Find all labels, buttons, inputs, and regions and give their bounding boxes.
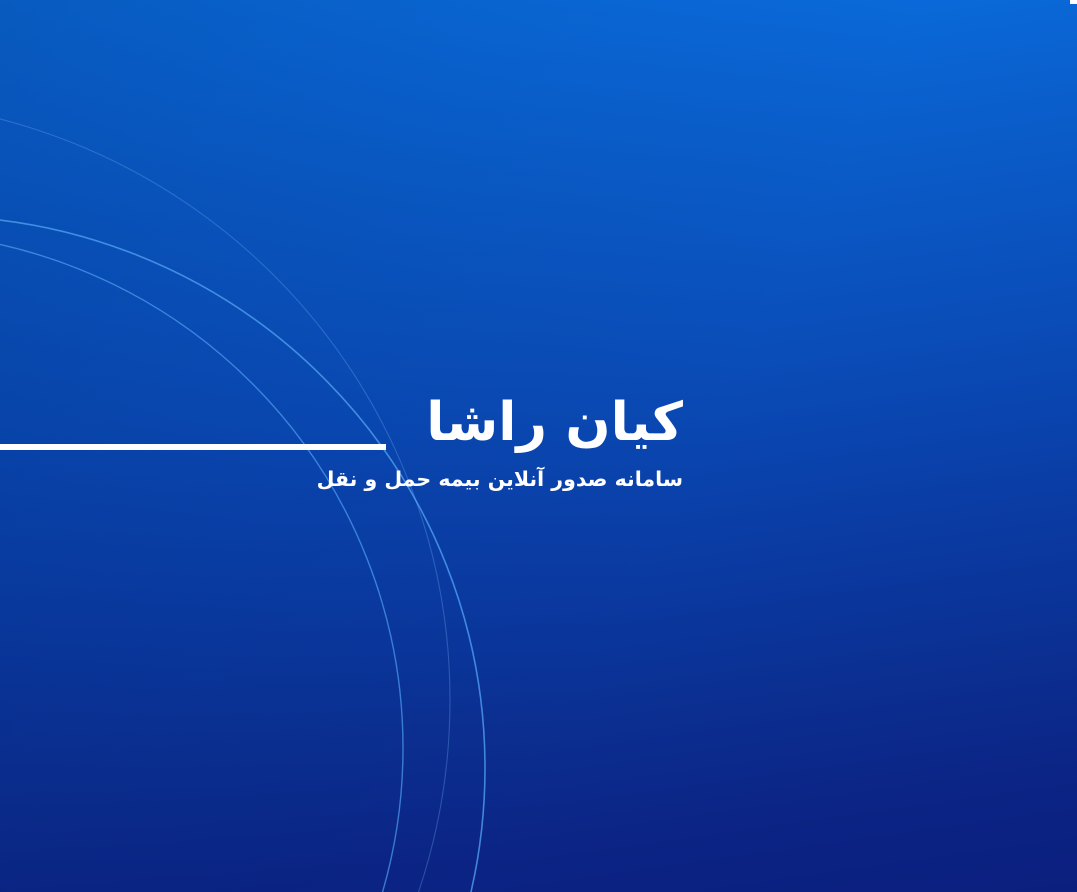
brand-block: کیان راشا سامانه صدور آنلاین بیمه حمل و … bbox=[203, 396, 683, 493]
decorative-arc-faint bbox=[0, 100, 450, 892]
brand-subtitle: سامانه صدور آنلاین بیمه حمل و نقل bbox=[203, 467, 683, 493]
splash-screen: کیان راشا سامانه صدور آنلاین بیمه حمل و … bbox=[0, 0, 1077, 892]
decorative-arc-inner bbox=[0, 232, 403, 892]
decorative-arc-outer bbox=[0, 216, 485, 892]
brand-title: کیان راشا bbox=[203, 396, 683, 449]
corner-notch bbox=[1070, 0, 1077, 4]
